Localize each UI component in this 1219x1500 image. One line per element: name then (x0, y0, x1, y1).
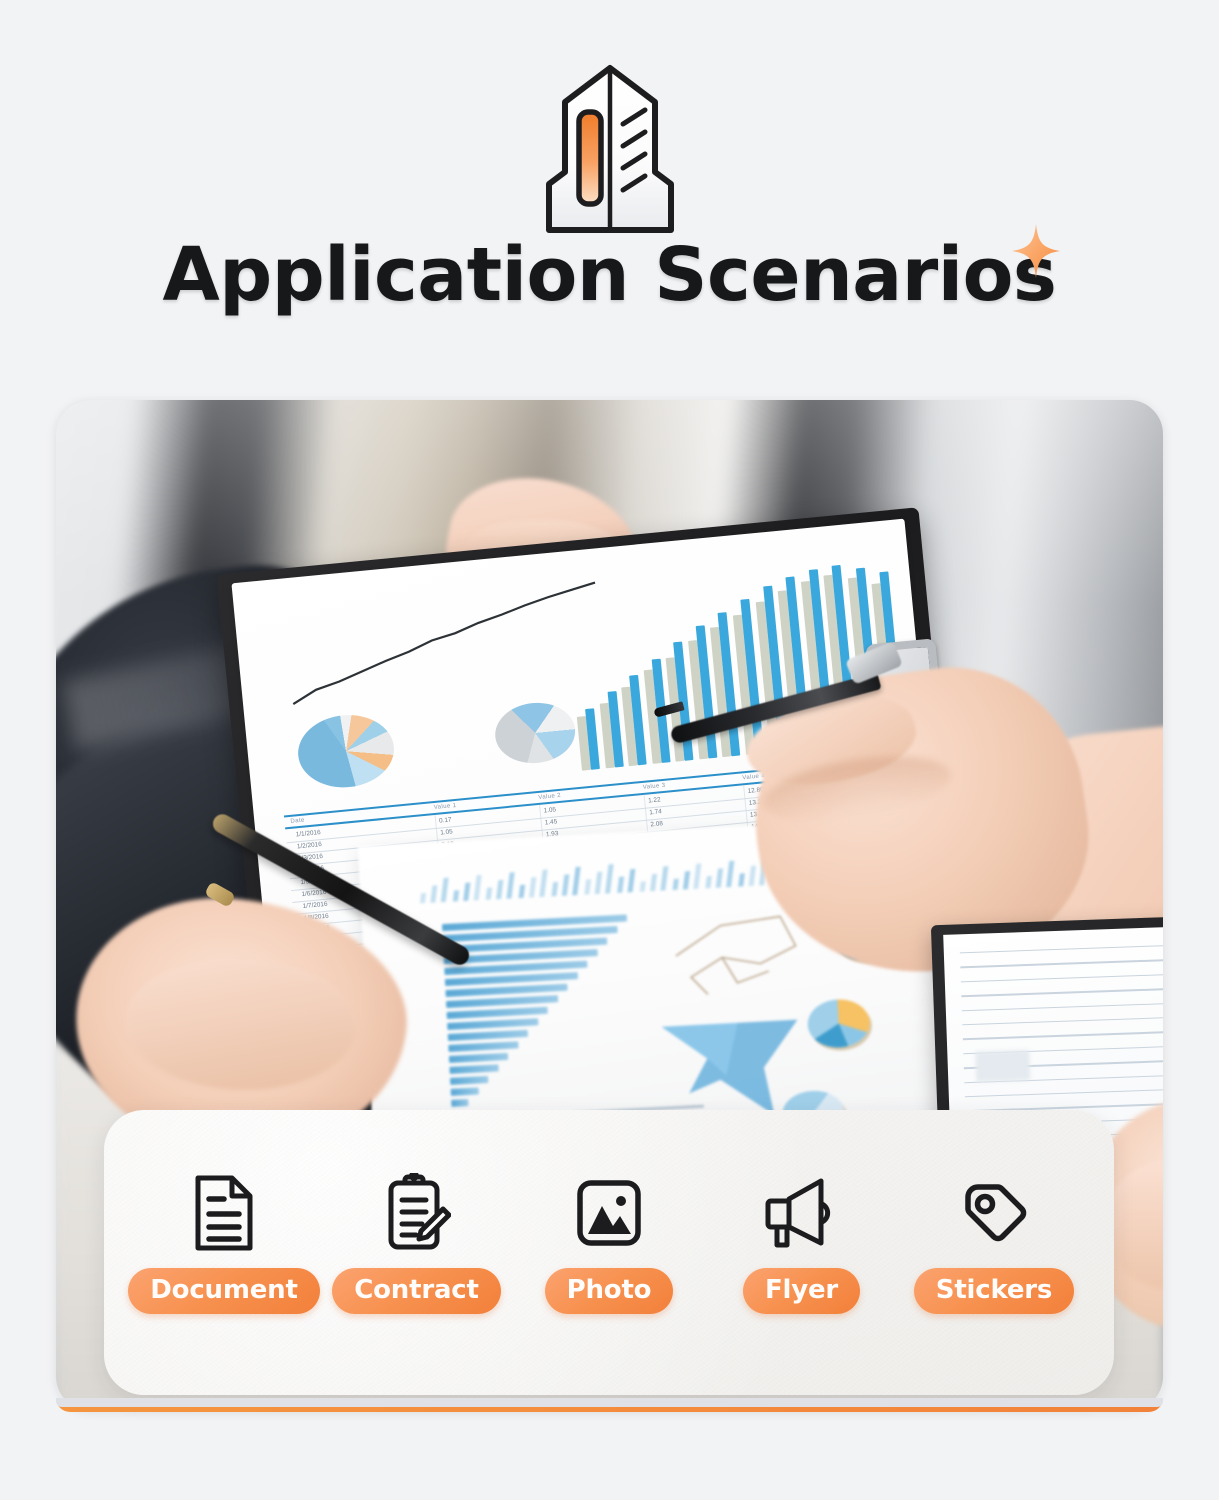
doc-horizontal-bar-chart (442, 914, 642, 1114)
report-pie-chart-2 (492, 699, 577, 766)
scenario-label-stickers[interactable]: Stickers (914, 1268, 1074, 1314)
scenario-item-contract[interactable]: Contract (327, 1170, 507, 1314)
scenario-label-document[interactable]: Document (128, 1268, 319, 1314)
notepad-block (975, 1050, 1030, 1082)
megaphone-icon (765, 1170, 839, 1256)
scenarios-panel: Document (104, 1110, 1114, 1395)
scenario-item-stickers[interactable]: Stickers (904, 1170, 1084, 1314)
image-picture-icon (575, 1170, 643, 1256)
scenario-badge-row: Document (104, 1170, 1114, 1314)
report-pie-chart-1 (295, 711, 397, 792)
scenario-item-document[interactable]: Document (134, 1170, 314, 1314)
building-skyscraper-icon (495, 62, 725, 247)
scenario-label-contract[interactable]: Contract (332, 1268, 501, 1314)
page-header: Application Scenarios (0, 0, 1219, 390)
document-page-icon (192, 1170, 256, 1256)
sparkle-star-icon (1010, 222, 1062, 280)
bottom-accent-shadow (56, 1398, 1163, 1407)
price-tag-icon (958, 1170, 1030, 1256)
clipboard-pencil-icon (383, 1170, 451, 1256)
scenario-item-flyer[interactable]: Flyer (712, 1170, 892, 1314)
doc-pie-chart-2 (807, 998, 871, 1049)
doc-network-diagram (662, 909, 817, 1007)
page-title: Application Scenarios (163, 238, 1057, 312)
scenario-item-photo[interactable]: Photo (519, 1170, 699, 1314)
page-root: Application Scenarios (0, 0, 1219, 1500)
scenario-label-photo[interactable]: Photo (545, 1268, 674, 1314)
scenario-label-flyer[interactable]: Flyer (743, 1268, 860, 1314)
